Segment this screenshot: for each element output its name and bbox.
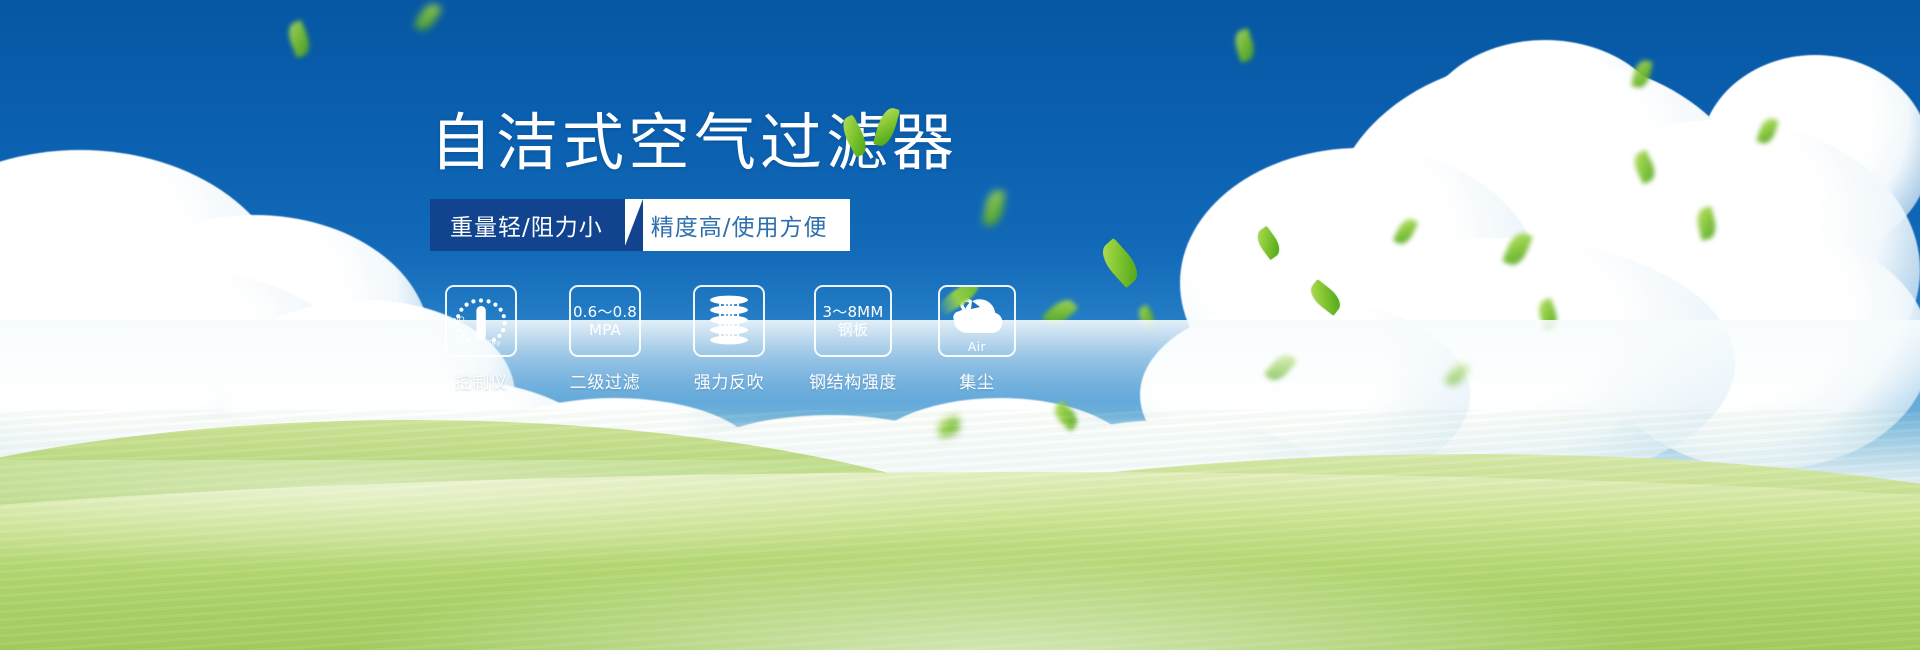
sprout-leaf-left — [838, 114, 872, 157]
air-label: Air — [968, 340, 986, 354]
feature-item: 强力反吹 — [678, 285, 780, 393]
feature-caption: 控制仪 — [455, 368, 508, 393]
dial-on-label: NO — [453, 314, 466, 325]
gauge-dial-icon: NO OFF — [451, 293, 511, 349]
title-sprout-decoration — [838, 102, 918, 158]
steel-value-line1: 3〜8MM — [823, 303, 884, 321]
grass-foreground — [0, 360, 1920, 650]
feature-icon-box: Air — [938, 285, 1016, 357]
steel-value-line2: 钢板 — [838, 321, 868, 339]
feature-item: Air 集尘 — [926, 285, 1028, 393]
feature-icon-box — [693, 285, 765, 357]
banner-content: 自洁式空气过滤器 重量轻/阻力小 精度高/使用方便 — [430, 110, 1150, 393]
feature-caption: 二级过滤 — [570, 368, 640, 393]
feature-caption: 强力反吹 — [694, 368, 764, 393]
dial-off-label: OFF — [487, 339, 501, 349]
sprout-leaf-right — [873, 105, 900, 148]
feature-item: NO OFF 控制仪 — [430, 285, 532, 393]
page-title: 自洁式空气过滤器 — [430, 110, 1150, 175]
feature-caption: 集尘 — [959, 368, 994, 393]
feature-item: 0.6〜0.8 MPA 二级过滤 — [554, 285, 656, 393]
filter-cartridge-icon — [703, 293, 755, 349]
pressure-value-line2: MPA — [589, 321, 621, 339]
product-banner: 自洁式空气过滤器 重量轻/阻力小 精度高/使用方便 — [0, 0, 1920, 650]
feature-list: NO OFF 控制仪 0.6〜0.8 MPA 二级过滤 — [430, 285, 1150, 393]
feature-icon-box: 0.6〜0.8 MPA — [569, 285, 641, 357]
pressure-value-line1: 0.6〜0.8 — [573, 303, 637, 321]
meadow-highlight — [0, 460, 1920, 650]
feature-icon-box: NO OFF — [445, 285, 517, 357]
feature-item: 3〜8MM 钢板 钢结构强度 — [802, 285, 904, 393]
feature-caption: 钢结构强度 — [809, 368, 897, 393]
tagline-secondary: 精度高/使用方便 — [621, 199, 850, 251]
feature-icon-box: 3〜8MM 钢板 — [814, 285, 892, 357]
tagline-primary: 重量轻/阻力小 — [430, 199, 625, 251]
tagline-bar: 重量轻/阻力小 精度高/使用方便 — [430, 199, 818, 251]
